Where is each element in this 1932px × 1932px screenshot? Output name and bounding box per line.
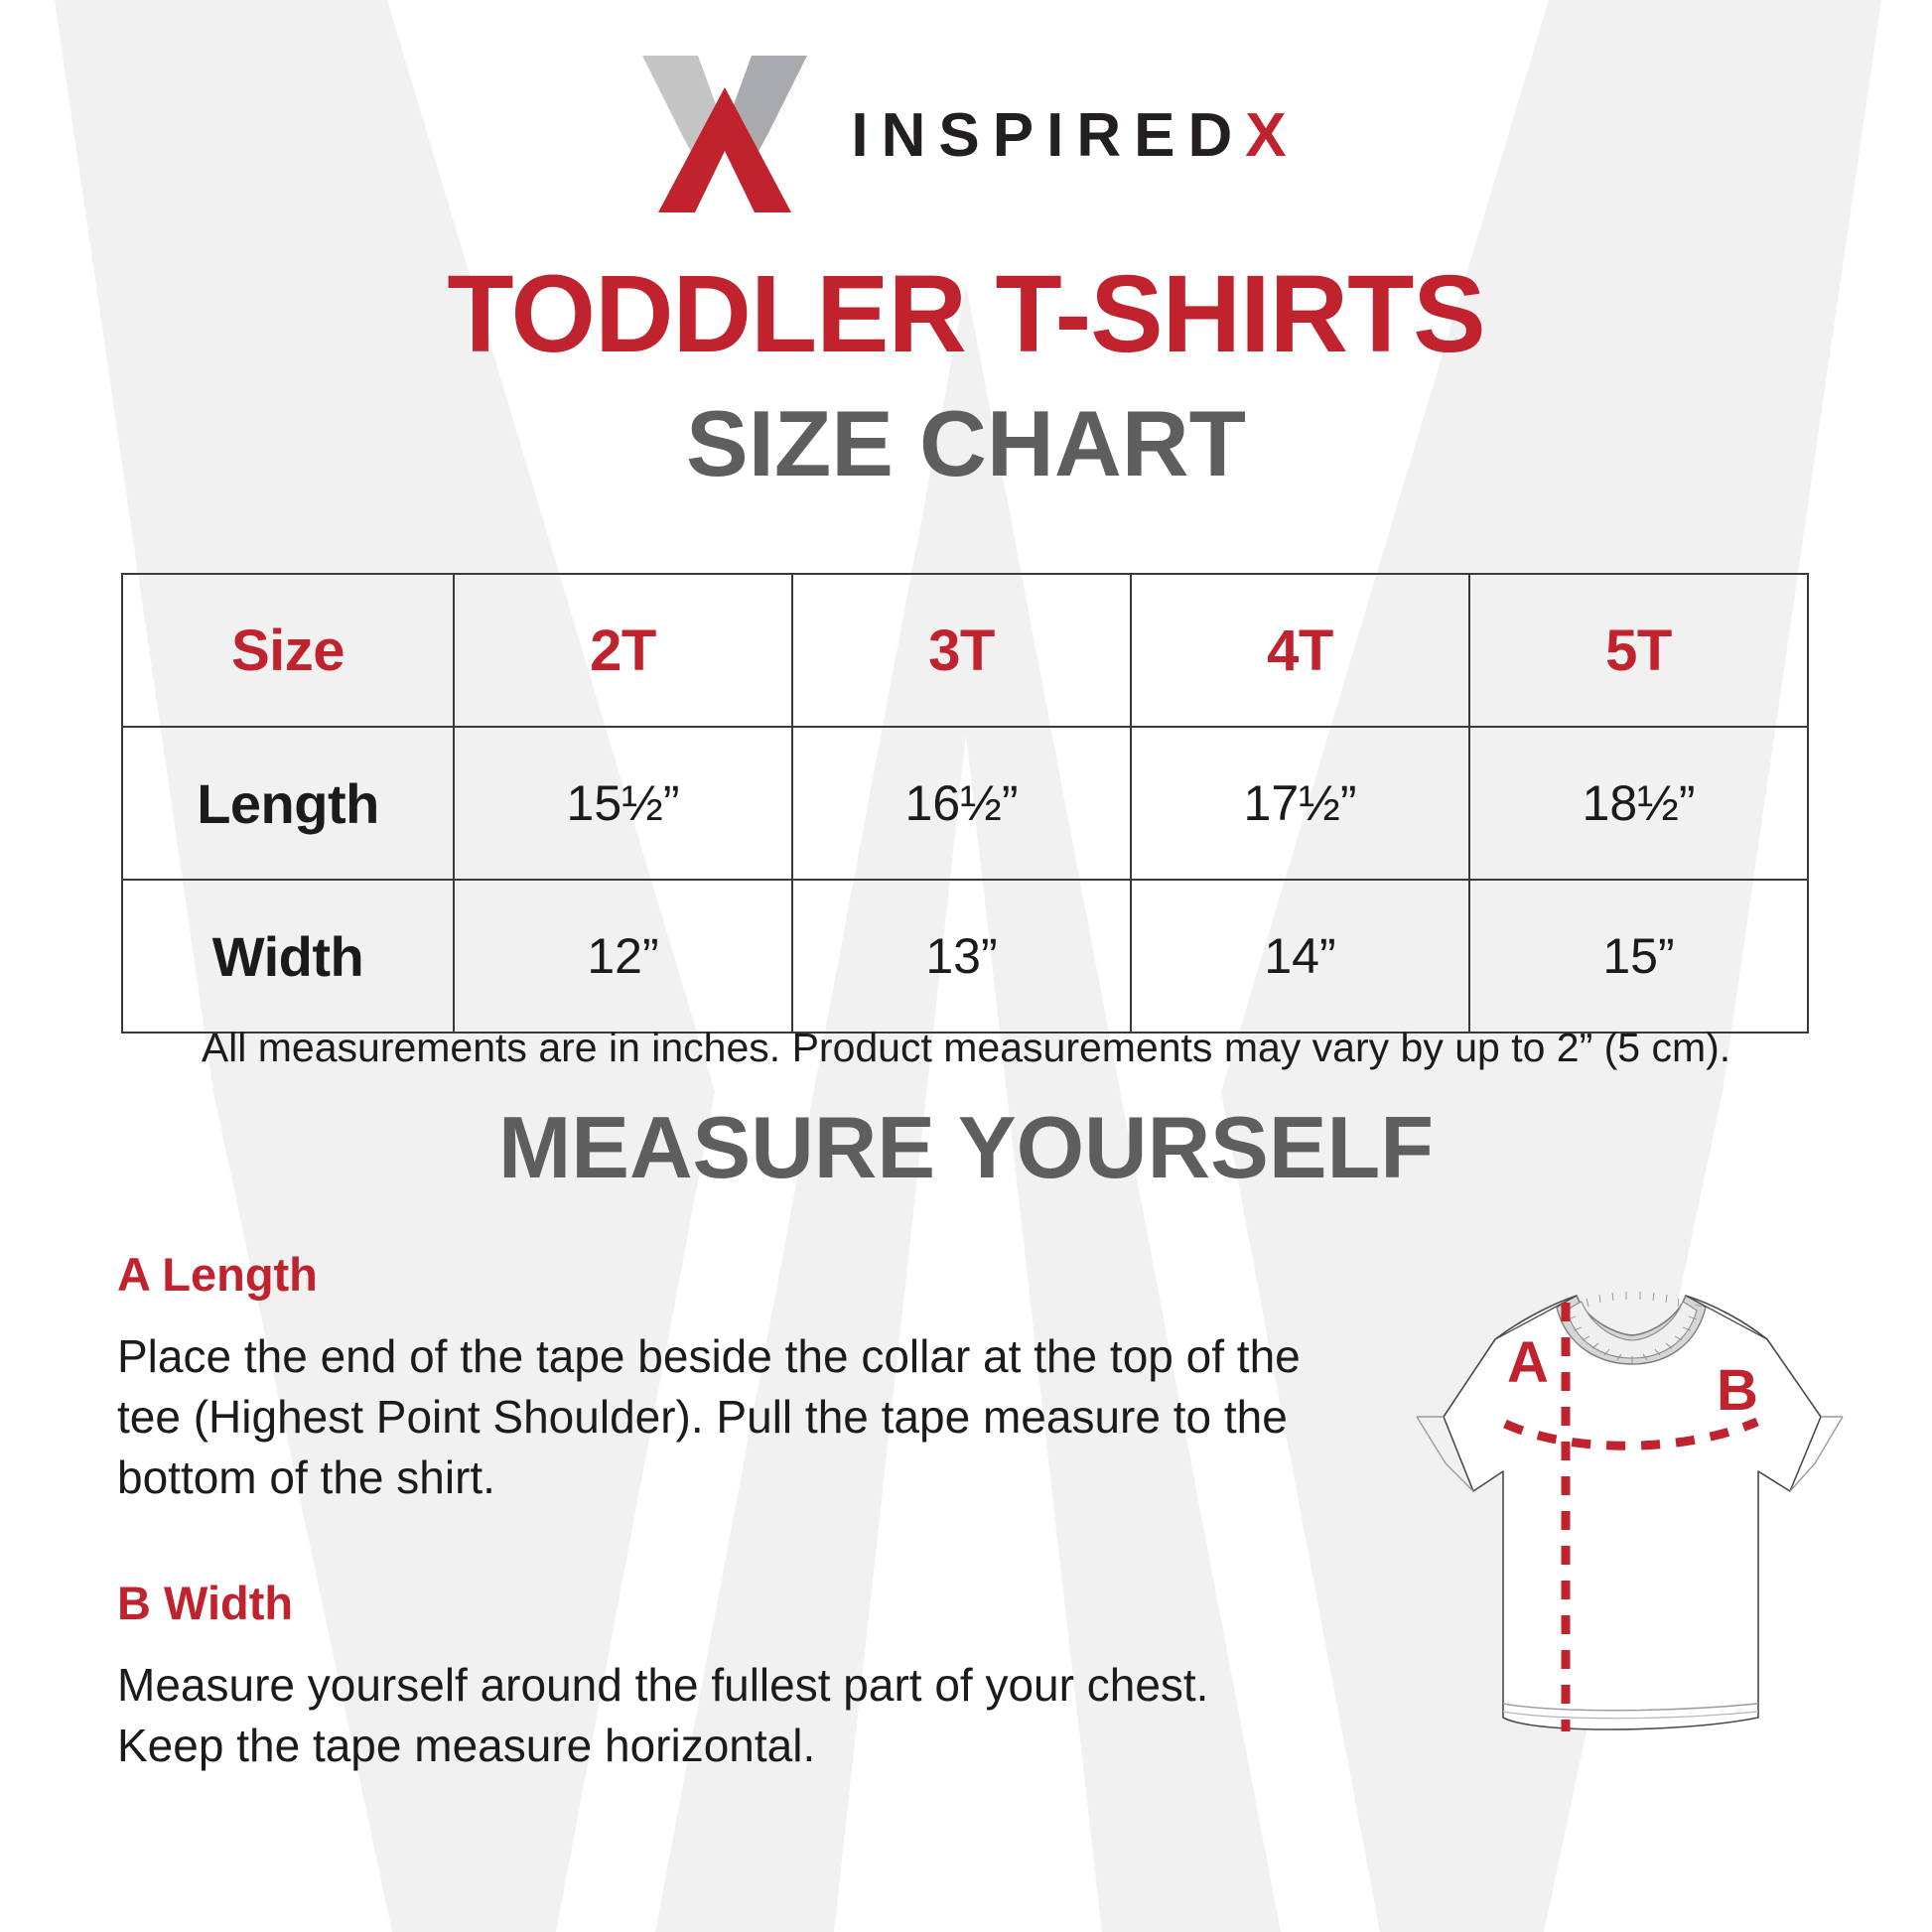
page-title: TODDLER T-SHIRTS	[0, 260, 1932, 369]
table-header-cell-5t: 5T	[1469, 574, 1808, 727]
cell-length-5t: 18½”	[1469, 727, 1808, 880]
cell-width-3t: 13”	[792, 880, 1131, 1033]
table-header-row: Size 2T 3T 4T 5T	[122, 574, 1808, 727]
instruction-heading-a-length: A Length	[117, 1249, 1318, 1301]
cell-length-4t: 17½”	[1131, 727, 1469, 880]
table-header-cell-4t: 4T	[1131, 574, 1469, 727]
cell-width-2t: 12”	[454, 880, 792, 1033]
table-row: Length 15½” 16½” 17½” 18½”	[122, 727, 1808, 880]
cell-width-4t: 14”	[1131, 880, 1469, 1033]
brand-wordmark: INSPIREDX	[851, 105, 1299, 167]
brand-logo-block: INSPIREDX	[0, 26, 1932, 212]
size-chart-page: INSPIREDX TODDLER T-SHIRTS SIZE CHART Si…	[0, 0, 1932, 1932]
instruction-heading-b-width: B Width	[117, 1578, 1318, 1629]
measurements-footnote: All measurements are in inches. Product …	[0, 1025, 1932, 1071]
tshirt-diagram: A B	[1356, 1243, 1853, 1739]
instruction-body-b-width: Measure yourself around the fullest part…	[117, 1655, 1318, 1776]
table-header-cell-3t: 3T	[792, 574, 1131, 727]
page-subtitle: SIZE CHART	[0, 397, 1932, 490]
table-row: Width 12” 13” 14” 15”	[122, 880, 1808, 1033]
diagram-label-a: A	[1507, 1330, 1549, 1395]
cell-length-2t: 15½”	[454, 727, 792, 880]
wordmark-main: INSPIRED	[851, 101, 1245, 170]
size-chart-table: Size 2T 3T 4T 5T Length 15½” 16½” 17½” 1…	[121, 573, 1809, 1034]
measure-yourself-title: MEASURE YOURSELF	[0, 1104, 1932, 1191]
instruction-spacer	[117, 1552, 1318, 1578]
diagram-label-b: B	[1717, 1358, 1758, 1423]
measure-instructions: A Length Place the end of the tape besid…	[117, 1249, 1318, 1776]
cell-length-3t: 16½”	[792, 727, 1131, 880]
row-label-width: Width	[122, 880, 454, 1033]
table-header-cell-size: Size	[122, 574, 454, 727]
wordmark-accent-x: X	[1245, 101, 1299, 170]
cell-width-5t: 15”	[1469, 880, 1808, 1033]
tshirt-measurement-diagram-icon: A B	[1356, 1243, 1853, 1739]
instruction-body-a-length: Place the end of the tape beside the col…	[117, 1326, 1318, 1509]
table-header-cell-2t: 2T	[454, 574, 792, 727]
row-label-length: Length	[122, 727, 454, 880]
inspiredx-chevron-logo-icon	[632, 26, 817, 212]
